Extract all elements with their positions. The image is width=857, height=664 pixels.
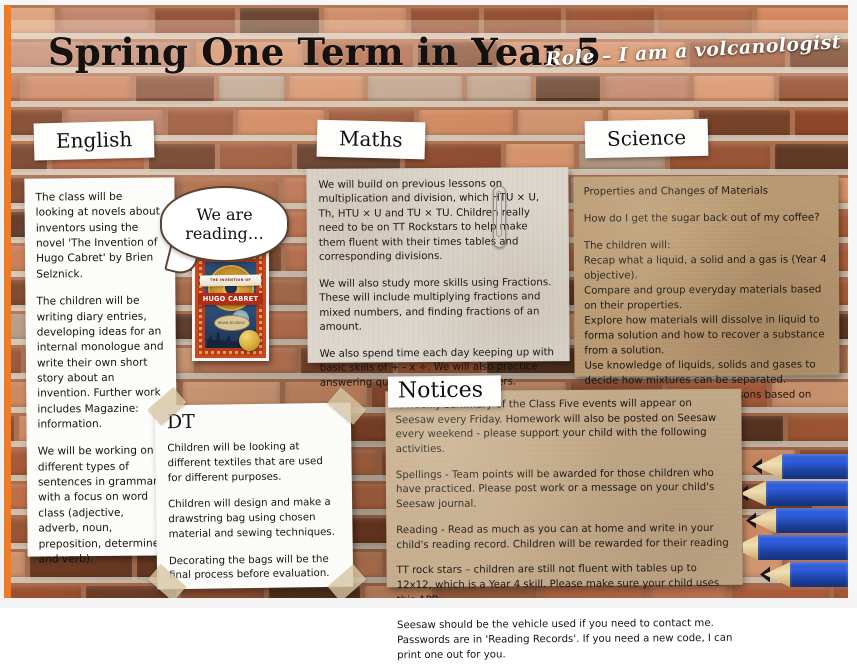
book-cover-image: BRIAN SELZNICK THE INVENTION OF HUGO CAB… bbox=[192, 249, 269, 361]
section-header-maths: Maths bbox=[317, 120, 425, 160]
notices-paragraph-5: Seesaw should be the vehicle used if you… bbox=[397, 617, 733, 663]
science-paragraph-6: Explore how materials will dissolve in l… bbox=[584, 313, 829, 359]
book-small-title: THE INVENTION OF bbox=[198, 275, 263, 286]
award-medal-icon bbox=[239, 330, 260, 351]
section-header-science: Science bbox=[585, 119, 709, 159]
pencil-wood bbox=[743, 535, 758, 560]
english-paragraph-3: We will be working on different types of… bbox=[38, 444, 167, 568]
pencil-wood bbox=[743, 481, 766, 506]
speech-bubble: We are reading… bbox=[160, 186, 289, 262]
panel-notices: A weekly summary of the Class Five event… bbox=[385, 389, 742, 587]
dt-paragraph-2: Children will design and make a drawstri… bbox=[168, 496, 341, 543]
pencil-body bbox=[776, 508, 848, 533]
poster-left-border bbox=[4, 4, 11, 598]
pencils-photo bbox=[743, 448, 848, 598]
pencil-wood bbox=[764, 562, 790, 587]
paperclip-icon bbox=[493, 186, 506, 248]
poster-right-border bbox=[848, 0, 857, 608]
panel-maths: We will build on previous lessons on mul… bbox=[306, 167, 569, 363]
panel-dt: DT Children will be looking at different… bbox=[155, 403, 354, 590]
dt-title: DT bbox=[167, 411, 339, 432]
panel-english: The class will be looking at novels abou… bbox=[24, 177, 177, 556]
dt-paragraph-1: Children will be looking at different te… bbox=[167, 440, 340, 487]
pencil-body bbox=[790, 562, 848, 587]
maths-paragraph-2: We will also study more skills using Fra… bbox=[319, 276, 557, 336]
pencil-wood bbox=[756, 454, 782, 479]
panel-science: Properties and Changes of Materials How … bbox=[573, 175, 839, 376]
english-paragraph-2: The children will be writing diary entri… bbox=[36, 294, 165, 433]
science-paragraph-7: Use knowledge of liquids, solids and gas… bbox=[584, 358, 829, 389]
english-paragraph-1: The class will be looking at novels abou… bbox=[35, 189, 164, 282]
pencil-body bbox=[766, 481, 848, 506]
science-paragraph-2: How do I get the sugar back out of my co… bbox=[584, 211, 829, 227]
book-main-title: HUGO CABRET bbox=[199, 293, 262, 305]
skyline-silhouette bbox=[207, 328, 243, 348]
book-cover-border: BRIAN SELZNICK THE INVENTION OF HUGO CAB… bbox=[195, 252, 266, 358]
curriculum-poster: Spring One Term in Year 5 Role – I am a … bbox=[0, 0, 857, 608]
pencil-wood bbox=[750, 508, 776, 533]
poster-bottom-border bbox=[0, 598, 857, 608]
notices-paragraph-2: Spellings - Team points will be awarded … bbox=[396, 467, 732, 513]
speech-bubble-text: We are reading… bbox=[162, 205, 287, 243]
section-header-notices: Notices bbox=[388, 375, 501, 407]
maths-paragraph-1: We will build on previous lessons on mul… bbox=[318, 177, 557, 266]
pencil-body bbox=[758, 535, 848, 560]
pencil-body bbox=[782, 454, 848, 479]
science-paragraph-1: Properties and Changes of Materials bbox=[584, 184, 829, 200]
science-paragraph-4: Recap what a liquid, a solid and a gas i… bbox=[584, 253, 829, 284]
book-author-oval: BRIAN SELZNICK bbox=[214, 315, 250, 331]
section-header-english: English bbox=[34, 121, 155, 161]
page-title: Spring One Term in Year 5 bbox=[48, 30, 601, 74]
science-paragraph-3: The children will: bbox=[584, 238, 829, 254]
dt-paragraph-3: Decorating the bags will be the final pr… bbox=[169, 552, 341, 584]
science-paragraph-5: Compare and group everyday materials bas… bbox=[584, 283, 829, 314]
poster-top-border bbox=[0, 0, 857, 5]
notices-paragraph-3: Reading - Read as much as you can at hom… bbox=[396, 522, 732, 554]
